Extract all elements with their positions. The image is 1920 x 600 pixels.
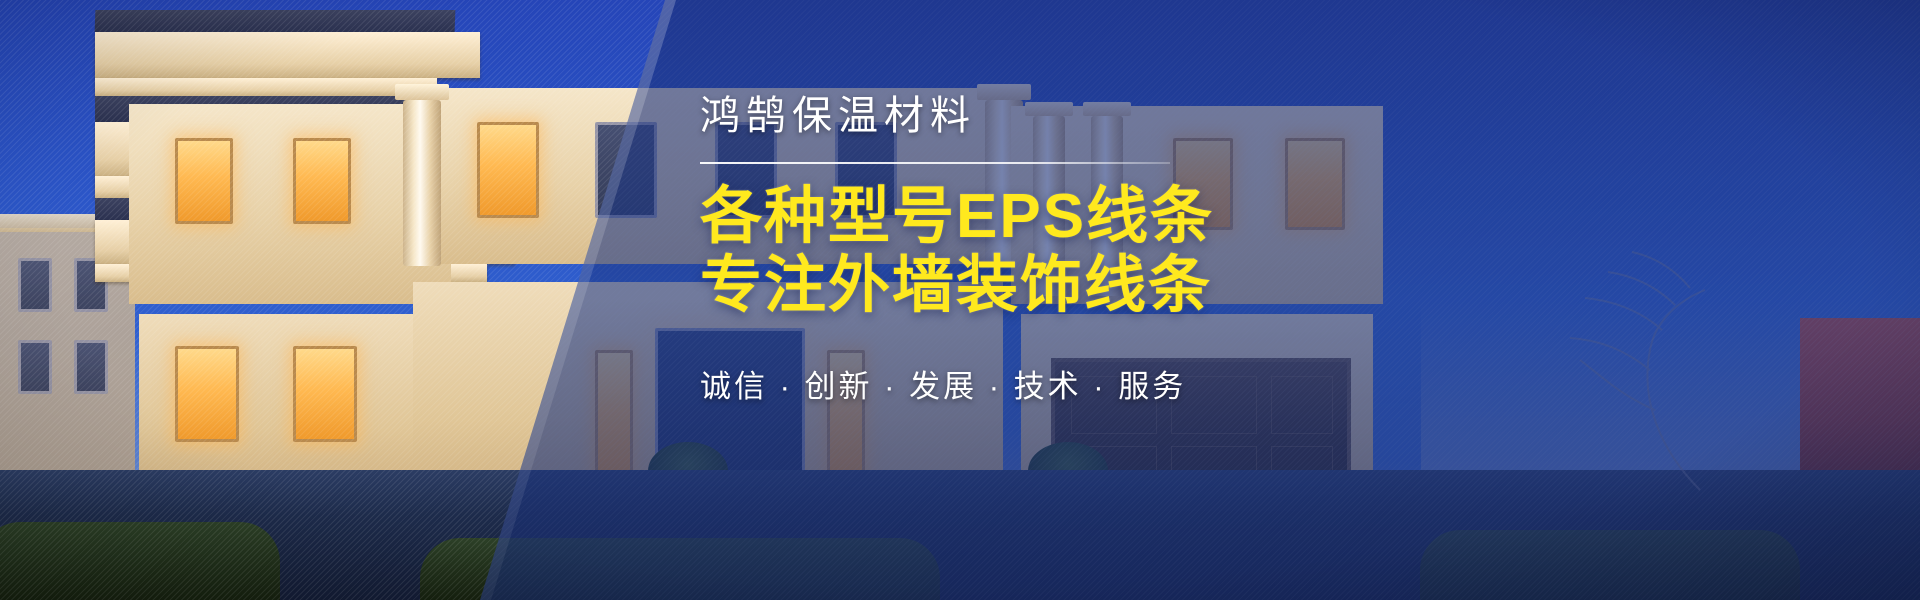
center-window-upper-dark	[595, 122, 657, 218]
left-wing-window-lower-1	[175, 346, 239, 442]
left-wing-cornice	[95, 32, 480, 78]
distant-window	[18, 340, 52, 394]
divider-rule	[700, 162, 1170, 164]
headline-line-2: 专注外墙装饰线条	[700, 251, 1850, 320]
center-window-upper	[477, 122, 539, 218]
left-wing-window-upper-2	[293, 138, 351, 224]
left-wing-window-lower-2	[293, 346, 357, 442]
banner-content: 鸿鹄保温材料 各种型号EPS线条 专注外墙装饰线条 诚信 · 创新 · 发展 ·…	[700, 96, 1850, 406]
left-wing-window-upper-1	[175, 138, 233, 224]
brand-name: 鸿鹄保温材料	[700, 96, 1850, 136]
left-wing-roof	[95, 10, 456, 32]
hedge-center	[420, 538, 940, 600]
distant-window	[18, 258, 52, 312]
tagline: 诚信 · 创新 · 发展 · 技术 · 服务	[700, 361, 1850, 406]
column-capital	[395, 84, 449, 100]
hedge-right	[1420, 530, 1800, 600]
promo-banner: 鸿鹄保温材料 各种型号EPS线条 专注外墙装饰线条 诚信 · 创新 · 发展 ·…	[0, 0, 1920, 600]
headline-line-1: 各种型号EPS线条	[700, 182, 1850, 251]
entrance-sidelight	[595, 350, 633, 490]
left-wing-band	[95, 78, 437, 96]
hedge-left	[0, 522, 280, 600]
